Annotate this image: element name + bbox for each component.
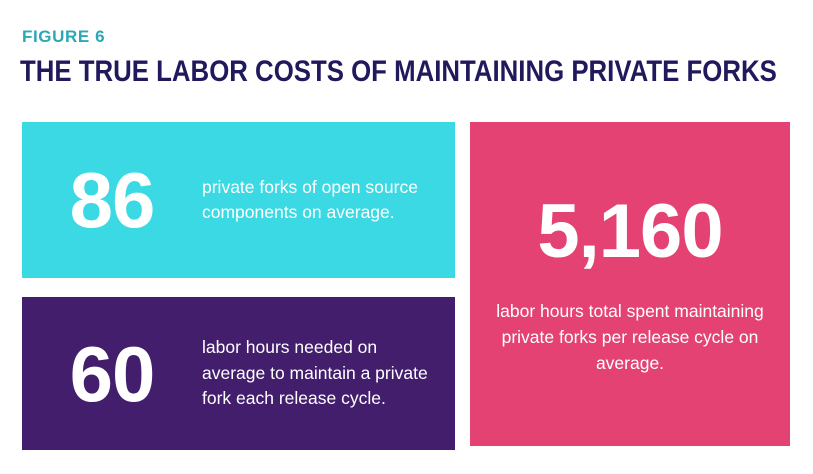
- stat-number-forks: 86: [22, 161, 202, 239]
- stat-card-hours-per-fork-layout: 60 labor hours needed on average to main…: [22, 297, 455, 450]
- stat-card-hours-total: 5,160 labor hours total spent maintainin…: [470, 122, 790, 446]
- stat-number-hours-total: 5,160: [537, 192, 722, 272]
- stat-card-forks-layout: 86 private forks of open source componen…: [22, 122, 455, 278]
- figure-label: FIGURE 6: [22, 27, 105, 47]
- stat-caption-forks: private forks of open source components …: [202, 175, 455, 226]
- stat-card-forks: 86 private forks of open source componen…: [22, 122, 455, 278]
- figure-container: FIGURE 6 THE TRUE LABOR COSTS OF MAINTAI…: [0, 0, 813, 474]
- stat-caption-hours-total: labor hours total spent maintaining priv…: [492, 298, 768, 376]
- stat-card-hours-total-layout: 5,160 labor hours total spent maintainin…: [470, 122, 790, 446]
- stat-card-hours-per-fork: 60 labor hours needed on average to main…: [22, 297, 455, 450]
- stat-caption-hours-per-fork: labor hours needed on average to maintai…: [202, 335, 455, 412]
- figure-title: THE TRUE LABOR COSTS OF MAINTAINING PRIV…: [20, 55, 777, 89]
- stat-number-hours-per-fork: 60: [22, 335, 202, 413]
